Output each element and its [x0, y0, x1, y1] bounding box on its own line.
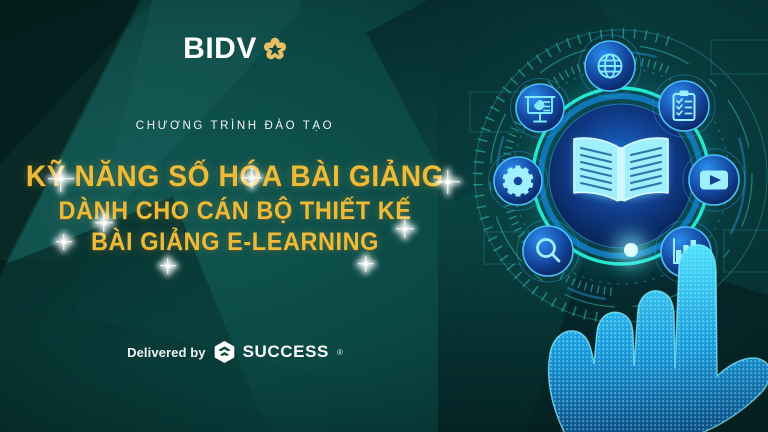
- video-play-icon: [683, 149, 745, 211]
- globe-icon: [579, 35, 641, 97]
- hexagon-chevron-logo-icon: [213, 340, 236, 364]
- program-kicker: CHƯƠNG TRÌNH ĐÀO TẠO: [0, 120, 470, 132]
- title-line-2: DÀNH CHO CÁN BỘ THIẾT KẾ: [14, 197, 456, 226]
- training-banner: BIDV CHƯƠNG TRÌNH ĐÀO TẠO KỸ NĂNG SỐ HÓA…: [0, 0, 768, 432]
- clipboard-checklist-icon: [653, 75, 715, 137]
- delivered-by-label: Delivered by: [127, 345, 206, 360]
- bidv-logo: BIDV: [0, 34, 470, 64]
- wireframe-pointing-hand: [454, 236, 768, 432]
- presentation-chart-icon: [511, 79, 570, 138]
- page-title: KỸ NĂNG SỐ HÓA BÀI GIẢNG DÀNH CHO CÁN BỘ…: [0, 160, 470, 257]
- sparkle-decor: [160, 258, 176, 274]
- trademark-symbol: ®: [337, 348, 343, 357]
- bidv-logo-text: BIDV: [183, 34, 257, 64]
- banner-content: BIDV CHƯƠNG TRÌNH ĐÀO TẠO KỸ NĂNG SỐ HÓA…: [0, 0, 470, 432]
- delivered-by: Delivered by SUCCESS ®: [0, 340, 470, 364]
- flower-star-emblem-icon: [263, 37, 287, 61]
- title-line-1: KỸ NĂNG SỐ HÓA BÀI GIẢNG: [14, 160, 456, 195]
- partner-name: SUCCESS: [243, 342, 329, 362]
- open-book-icon: [574, 138, 668, 201]
- title-line-3: BÀI GIẢNG E-LEARNING: [14, 228, 456, 257]
- sparkle-decor: [358, 256, 374, 272]
- gear-icon: [489, 152, 548, 211]
